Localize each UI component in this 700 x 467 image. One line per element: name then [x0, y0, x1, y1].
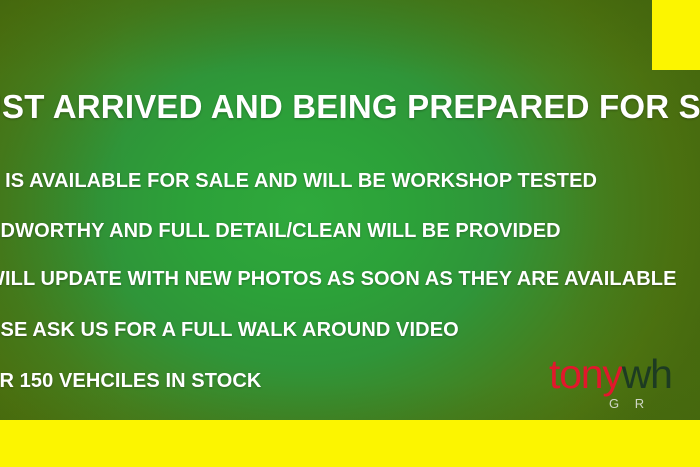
banner-body-line-1: S IS AVAILABLE FOR SALE AND WILL BE WORK… [0, 170, 700, 193]
banner-body-line-2: ADWORTHY AND FULL DETAIL/CLEAN WILL BE P… [0, 220, 700, 243]
yellow-corner-block [652, 0, 700, 70]
logo-word-primary: tony [549, 354, 622, 397]
banner-body-line-4: ASE ASK US FOR A FULL WALK AROUND VIDEO [0, 319, 700, 342]
dealer-logo: tonywh G R [549, 354, 700, 416]
banner-headline: UST ARRIVED AND BEING PREPARED FOR SA [0, 88, 700, 126]
logo-tagline: G R [609, 396, 700, 411]
promo-banner: UST ARRIVED AND BEING PREPARED FOR SA S … [0, 0, 700, 467]
logo-wordmark: tonywh [549, 354, 700, 394]
logo-word-secondary: wh [622, 354, 672, 397]
banner-body-line-3: WILL UPDATE WITH NEW PHOTOS AS SOON AS T… [0, 268, 700, 291]
yellow-footer-bar [0, 420, 700, 467]
